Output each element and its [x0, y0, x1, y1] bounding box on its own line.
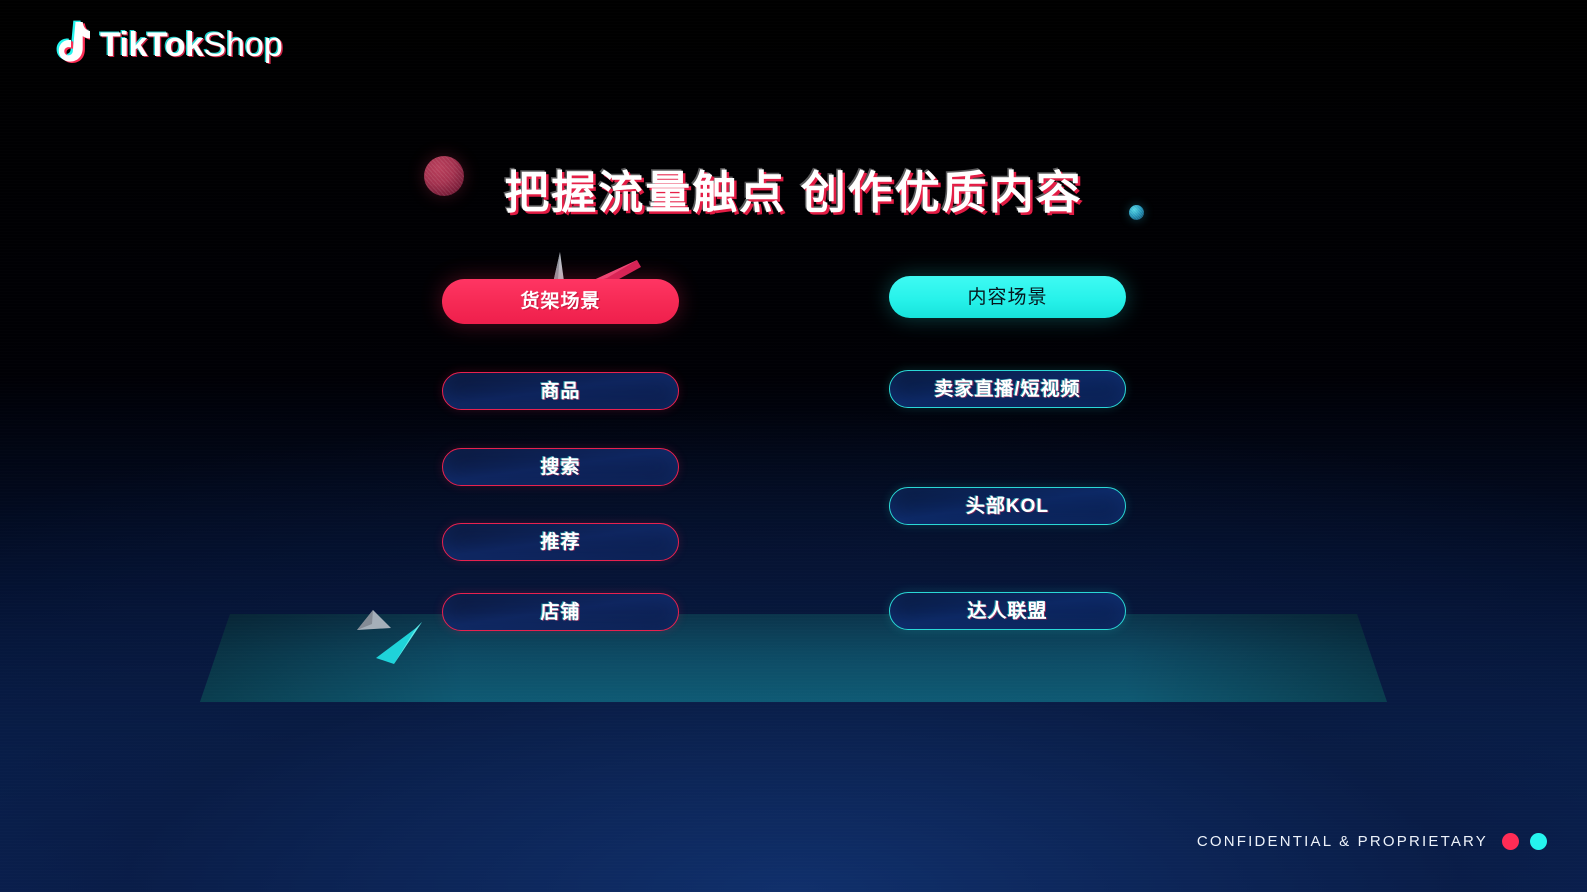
- brand-logo: TikTokShop: [44, 20, 283, 70]
- cyan-paper-plane-icon: [372, 622, 428, 666]
- pill-label: 店铺: [540, 603, 580, 622]
- pill-label: 达人联盟: [967, 602, 1047, 621]
- pill-shelf-item-0[interactable]: 商品: [442, 372, 679, 410]
- column-header-shelf[interactable]: 货架场景: [442, 279, 679, 324]
- cyan-dot-icon: [1530, 833, 1547, 850]
- pill-content-item-1[interactable]: 头部KOL: [889, 487, 1126, 525]
- brand-shop-text: Shop: [203, 26, 282, 64]
- tiktok-note-icon: [44, 20, 90, 70]
- footer: CONFIDENTIAL & PROPRIETARY: [1197, 833, 1547, 850]
- page-title: 把握流量触点 创作优质内容: [0, 168, 1587, 218]
- pill-content-item-2[interactable]: 达人联盟: [889, 592, 1126, 630]
- pill-label: 货架场景: [520, 292, 600, 311]
- perspective-floor-plane: [0, 614, 1587, 704]
- pill-label: 商品: [540, 382, 580, 401]
- pill-label: 卖家直播/短视频: [934, 380, 1080, 399]
- brand-wordmark: TikTokShop: [100, 28, 283, 62]
- pill-label: 推荐: [540, 533, 580, 552]
- pill-shelf-item-3[interactable]: 店铺: [442, 593, 679, 631]
- column-header-content[interactable]: 内容场景: [889, 276, 1126, 318]
- pill-shelf-item-2[interactable]: 推荐: [442, 523, 679, 561]
- pink-dot-icon: [1502, 833, 1519, 850]
- pill-content-item-0[interactable]: 卖家直播/短视频: [889, 370, 1126, 408]
- pill-label: 头部KOL: [966, 497, 1049, 516]
- brand-tiktok-text: TikTok: [100, 26, 203, 64]
- footer-dots: [1502, 833, 1547, 850]
- pill-shelf-item-1[interactable]: 搜索: [442, 448, 679, 486]
- slide-canvas: TikTokShop 把握流量触点 创作优质内容 货架场景 商品 搜索 推荐 店…: [0, 0, 1587, 892]
- pill-label: 搜索: [540, 458, 580, 477]
- silver-paper-plane-icon: [355, 610, 391, 632]
- confidential-notice: CONFIDENTIAL & PROPRIETARY: [1197, 833, 1488, 850]
- pill-label: 内容场景: [967, 288, 1047, 307]
